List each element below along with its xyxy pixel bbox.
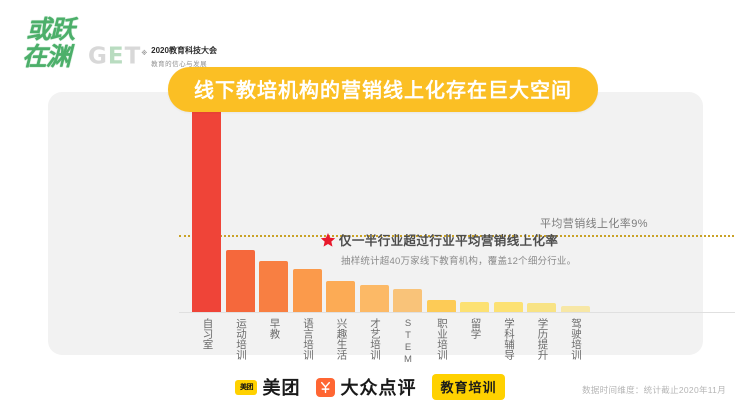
bar-slot bbox=[324, 106, 358, 312]
bar-早教 bbox=[259, 261, 288, 313]
bar-驾驶培训 bbox=[561, 306, 590, 312]
calligraphy-line-1: 或跃 bbox=[22, 16, 108, 43]
x-axis-label-6: STEM bbox=[402, 318, 414, 366]
get-wordmark: GET※ bbox=[88, 44, 148, 67]
data-source-note: 数据时间维度：统计截止2020年11月 bbox=[582, 384, 726, 396]
meituan-logo-text: 美团 bbox=[240, 382, 253, 392]
bar-才艺培训 bbox=[360, 285, 389, 312]
chart-annotation: 仅一半行业超过行业平均营销线上化率 抽样统计超40万家线下教育机构，覆盖12个细… bbox=[320, 230, 576, 267]
bar-学历提升 bbox=[527, 303, 556, 312]
bar-slot bbox=[458, 106, 492, 312]
bar-chart: 平均营销线上化率9% 自习室运动培训早教语言培训兴趣生活才艺培训STEM职业培训… bbox=[48, 92, 703, 355]
bar-slot bbox=[358, 106, 392, 312]
bar-slot bbox=[391, 106, 425, 312]
bar-slot bbox=[190, 106, 224, 312]
x-axis-label-8: 留学 bbox=[469, 318, 481, 366]
bar-slot bbox=[291, 106, 325, 312]
x-axis-label-1: 运动培训 bbox=[235, 318, 247, 366]
x-axis-labels: 自习室运动培训早教语言培训兴趣生活才艺培训STEM职业培训留学学科辅导学历提升驾… bbox=[190, 318, 592, 366]
dianping-brand-name: 大众点评 bbox=[340, 374, 416, 400]
bar-slot bbox=[257, 106, 291, 312]
bar-slot bbox=[525, 106, 559, 312]
category-badge: 教育培训 bbox=[432, 374, 504, 400]
bar-自习室 bbox=[192, 110, 221, 312]
x-label-slot: 学科辅导 bbox=[492, 318, 526, 366]
x-axis-label-4: 兴趣生活 bbox=[335, 318, 347, 366]
bar-slot bbox=[224, 106, 258, 312]
x-label-slot: 语言培训 bbox=[291, 318, 325, 366]
x-axis-label-5: 才艺培训 bbox=[369, 318, 381, 366]
x-axis-label-0: 自习室 bbox=[201, 318, 213, 366]
x-axis-label-10: 学历提升 bbox=[536, 318, 548, 366]
x-label-slot: 驾驶培训 bbox=[559, 318, 593, 366]
annotation-heading-row: 仅一半行业超过行业平均营销线上化率 bbox=[320, 230, 576, 249]
x-axis-label-2: 早教 bbox=[268, 318, 280, 366]
bar-兴趣生活 bbox=[326, 281, 355, 312]
bar-slot bbox=[559, 106, 593, 312]
bar-STEM bbox=[393, 289, 422, 312]
conference-name: 2020教育科技大会 bbox=[151, 45, 217, 56]
bar-留学 bbox=[460, 302, 489, 312]
get-tagline-block: 2020教育科技大会 教育的信心与发展 bbox=[151, 44, 217, 68]
annotation-subtext: 抽样统计超40万家线下教育机构，覆盖12个细分行业。 bbox=[341, 253, 576, 267]
x-label-slot: 留学 bbox=[458, 318, 492, 366]
x-axis-label-9: 学科辅导 bbox=[503, 318, 515, 366]
x-label-slot: 职业培训 bbox=[425, 318, 459, 366]
get-superscript: ※ bbox=[141, 50, 148, 57]
bar-运动培训 bbox=[226, 250, 255, 312]
slide-title: 线下教培机构的营销线上化存在巨大空间 bbox=[194, 80, 572, 102]
x-axis-label-3: 语言培训 bbox=[302, 318, 314, 366]
plot-area bbox=[190, 106, 592, 312]
x-label-slot: 运动培训 bbox=[224, 318, 258, 366]
bar-series bbox=[190, 106, 592, 312]
dianping-glyph bbox=[319, 381, 332, 394]
x-label-slot: STEM bbox=[391, 318, 425, 366]
bar-职业培训 bbox=[427, 300, 456, 312]
bar-slot bbox=[425, 106, 459, 312]
x-label-slot: 早教 bbox=[257, 318, 291, 366]
bar-学科辅导 bbox=[494, 302, 523, 312]
slide-title-banner: 线下教培机构的营销线上化存在巨大空间 bbox=[168, 67, 598, 112]
x-label-slot: 自习室 bbox=[190, 318, 224, 366]
x-label-slot: 才艺培训 bbox=[358, 318, 392, 366]
x-label-slot: 学历提升 bbox=[525, 318, 559, 366]
bar-slot bbox=[492, 106, 526, 312]
star-icon bbox=[320, 232, 336, 248]
dianping-icon bbox=[316, 378, 335, 397]
annotation-heading: 仅一半行业超过行业平均营销线上化率 bbox=[339, 230, 558, 249]
x-label-slot: 兴趣生活 bbox=[324, 318, 358, 366]
meituan-brand-name: 美团 bbox=[262, 374, 300, 400]
chart-card: 平均营销线上化率9% 自习室运动培训早教语言培训兴趣生活才艺培训STEM职业培训… bbox=[48, 92, 703, 355]
meituan-logo-icon: 美团 bbox=[235, 380, 257, 395]
x-axis-label-11: 驾驶培训 bbox=[570, 318, 582, 366]
get-brand-lockup: GET※ 2020教育科技大会 教育的信心与发展 bbox=[88, 44, 217, 68]
x-axis-label-7: 职业培训 bbox=[436, 318, 448, 366]
bar-语言培训 bbox=[293, 269, 322, 312]
chart-baseline bbox=[179, 312, 735, 313]
